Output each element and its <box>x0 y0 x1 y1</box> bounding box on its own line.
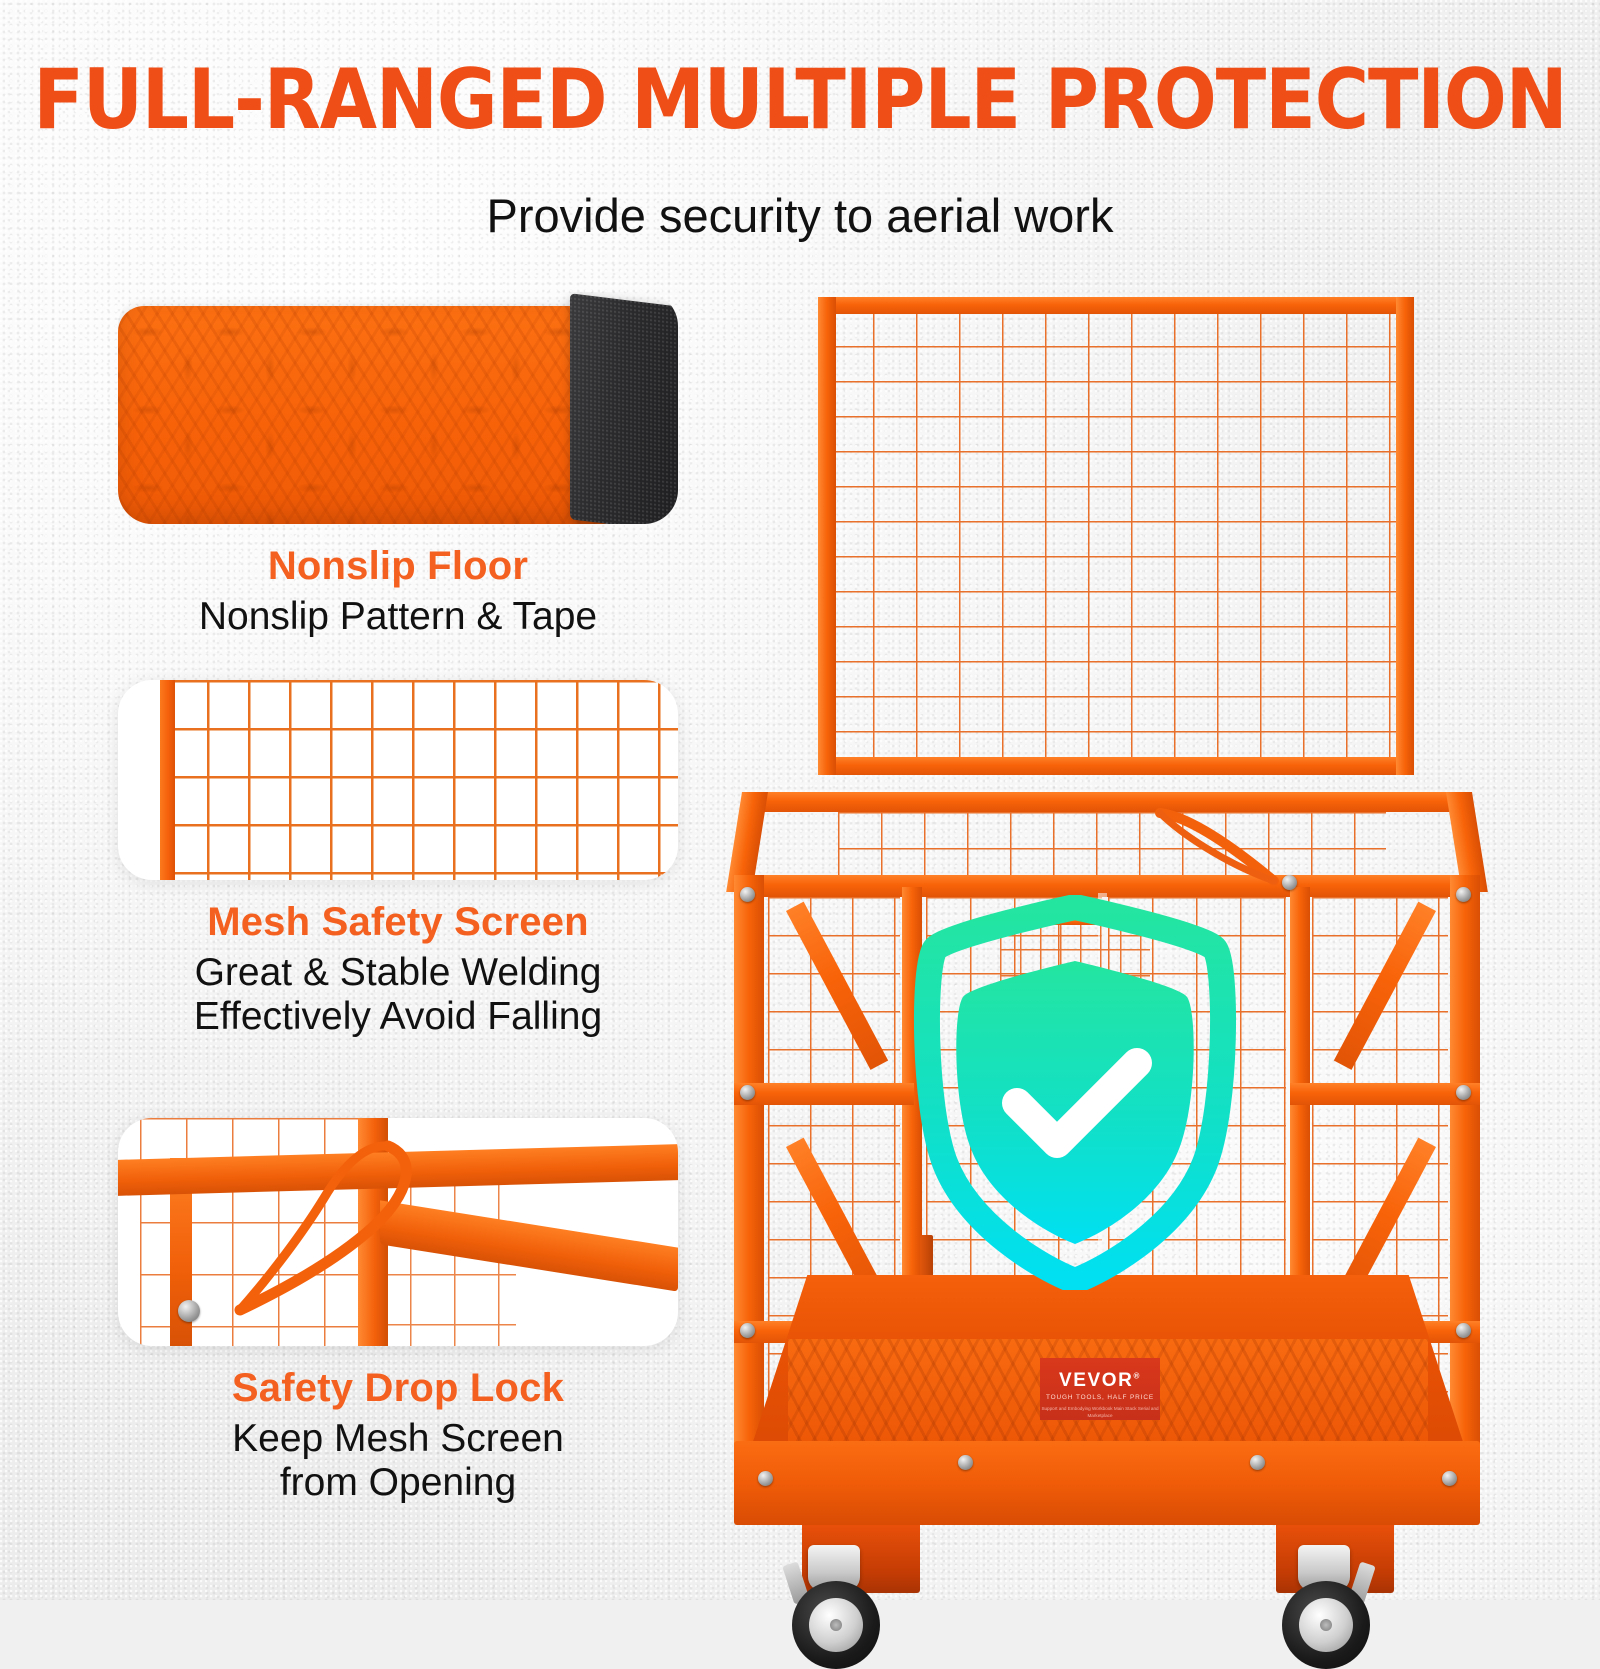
vevor-note: Support and Embodying Workbook Main Stac… <box>1040 1406 1160 1420</box>
caster-tire <box>1282 1581 1370 1669</box>
feature-heading: Mesh Safety Screen <box>118 900 678 945</box>
page-title: FULL-RANGED MULTIPLE PROTECTION <box>8 58 1592 143</box>
cage-top-rail <box>742 792 1472 812</box>
mesh-frame-post-icon <box>160 680 175 880</box>
feature-safety-drop-lock: Safety Drop Lock Keep Mesh Screen from O… <box>118 1118 678 1505</box>
feature-heading: Nonslip Floor <box>118 544 678 589</box>
back-panel-mesh-icon <box>830 311 1400 766</box>
back-panel-left-post <box>818 297 836 775</box>
lock-bolt-icon <box>178 1300 200 1322</box>
mid-rail-left <box>734 1083 914 1105</box>
wire-mesh-grid-icon <box>166 680 678 880</box>
cage-post-left <box>734 875 764 1445</box>
base-bolt <box>1250 1455 1265 1470</box>
cage-post-right <box>1450 875 1480 1445</box>
vevor-brand-plate: VEVOR® TOUGH TOOLS, HALF PRICE Support a… <box>1040 1358 1160 1420</box>
drop-lock-image <box>118 1118 678 1346</box>
drop-lock-wire-loop-icon <box>174 1124 434 1346</box>
feature-heading: Safety Drop Lock <box>118 1366 678 1411</box>
caster-hub-center <box>1320 1619 1332 1631</box>
upper-mesh-band-icon <box>838 812 1386 884</box>
mid-rail-right <box>1290 1083 1480 1105</box>
vevor-wordmark: VEVOR® <box>1040 1370 1160 1392</box>
base-bolt <box>1442 1471 1457 1486</box>
feature-subtext-line1: Keep Mesh Screen <box>118 1417 678 1461</box>
page-subtitle: Provide security to aerial work <box>0 188 1600 243</box>
back-panel-bottom-rail <box>818 757 1414 775</box>
caster-tire <box>792 1581 880 1669</box>
base-skirt <box>734 1441 1480 1525</box>
frame-bolt <box>740 1323 755 1338</box>
feature-subtext-line2: from Opening <box>118 1461 678 1505</box>
feature-mesh-safety-screen: Mesh Safety Screen Great & Stable Weldin… <box>118 680 678 1039</box>
diamond-plate-mat-icon <box>118 306 610 524</box>
nonslip-floor-image <box>118 292 678 524</box>
shield-check-badge-icon <box>905 895 1245 1290</box>
drop-lock-handle-icon[interactable] <box>1152 807 1302 897</box>
back-panel-right-post <box>1396 297 1414 775</box>
drop-lock-pivot-bolt-icon <box>1282 875 1297 890</box>
cage-upper-rail <box>734 875 1480 897</box>
frame-bolt <box>1456 1323 1471 1338</box>
grip-tape-strip-icon <box>570 293 678 524</box>
frame-bolt <box>1456 887 1471 902</box>
feature-subtext-line1: Great & Stable Welding <box>118 951 678 995</box>
frame-bolt <box>740 1085 755 1100</box>
frame-bolt <box>1456 1085 1471 1100</box>
base-bolt <box>958 1455 973 1470</box>
caster-hub-center <box>830 1619 842 1631</box>
back-panel-top-rail <box>818 297 1414 314</box>
feature-nonslip-floor: Nonslip Floor Nonslip Pattern & Tape <box>118 292 678 639</box>
base-bolt <box>758 1471 773 1486</box>
feature-subtext: Nonslip Pattern & Tape <box>118 595 678 639</box>
feature-subtext-line2: Effectively Avoid Falling <box>118 995 678 1039</box>
frame-bolt <box>740 887 755 902</box>
vevor-tagline: TOUGH TOOLS, HALF PRICE <box>1040 1394 1160 1401</box>
mesh-screen-image <box>118 680 678 880</box>
